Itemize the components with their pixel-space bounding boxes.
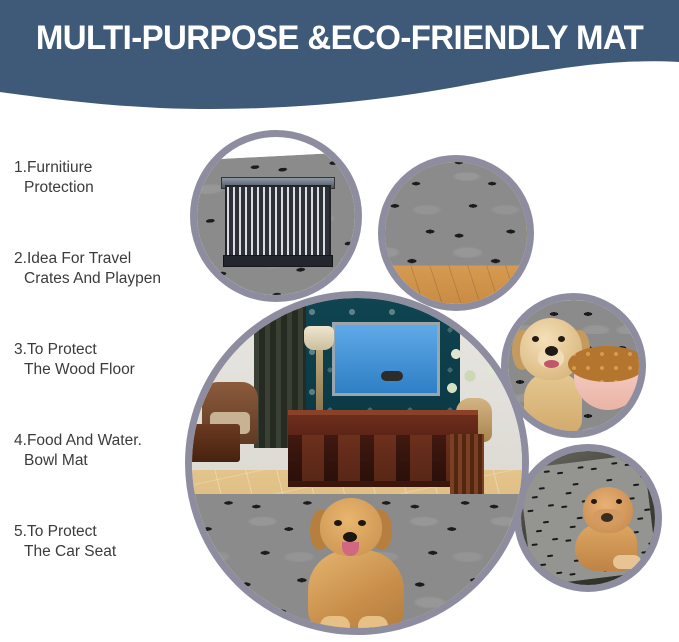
feature-4-index: 4. bbox=[14, 432, 27, 449]
feature-3-line1: To Protect bbox=[27, 341, 97, 358]
bowl-dog-nose bbox=[545, 346, 558, 356]
feature-4-line2: Bowl Mat bbox=[14, 451, 209, 471]
dog-nose bbox=[343, 532, 357, 542]
crate-scene bbox=[197, 137, 355, 295]
feature-item-2: 2.Idea For Travel Crates And Playpen bbox=[14, 249, 209, 289]
photo-circle-living-room bbox=[185, 291, 529, 635]
page-title: MULTI-PURPOSE &ECO-FRIENDLY MAT bbox=[10, 18, 669, 58]
flower-arrangement bbox=[442, 336, 504, 406]
product-infographic: MULTI-PURPOSE &ECO-FRIENDLY MAT 1.Furnit… bbox=[0, 0, 679, 642]
kibble-food bbox=[568, 346, 639, 382]
dog-paw-right bbox=[358, 616, 388, 628]
feature-5-index: 5. bbox=[14, 523, 27, 540]
puppy-nose bbox=[601, 513, 613, 522]
feature-item-4: 4.Food And Water. Bowl Mat bbox=[14, 431, 209, 471]
crate-bars bbox=[225, 185, 331, 261]
living-room-scene bbox=[192, 298, 522, 628]
feature-item-1: 1.Furnitiure Protection bbox=[14, 158, 209, 198]
food-bowl-scene bbox=[508, 300, 639, 431]
feature-item-5: 5.To Protect The Car Seat bbox=[14, 522, 209, 562]
feature-5-line1: To Protect bbox=[27, 523, 97, 540]
bowl-dog-eye-right bbox=[558, 336, 565, 342]
feature-1-line2: Protection bbox=[14, 178, 209, 198]
crate-tray bbox=[223, 255, 333, 267]
photo-circle-car-seat bbox=[514, 444, 662, 592]
feature-4-line1: Food And Water. bbox=[27, 432, 142, 449]
feature-5-line2: The Car Seat bbox=[14, 542, 209, 562]
side-table bbox=[192, 424, 240, 462]
feature-1-line1: Furnitiure bbox=[27, 159, 92, 176]
feature-list: 1.Furnitiure Protection 2.Idea For Trave… bbox=[14, 158, 209, 613]
car-seat-scene bbox=[521, 451, 655, 585]
feature-3-index: 3. bbox=[14, 341, 27, 358]
dog-paw-left bbox=[320, 616, 350, 628]
feature-3-line2: The Wood Floor bbox=[14, 360, 209, 380]
dog-body bbox=[308, 550, 404, 628]
feature-1-index: 1. bbox=[14, 159, 27, 176]
feature-item-3: 3.To Protect The Wood Floor bbox=[14, 340, 209, 380]
dog-eye-right bbox=[358, 520, 366, 526]
wood-floor-scene bbox=[385, 162, 527, 304]
dog-eye-left bbox=[334, 520, 342, 526]
puppy-eye-right bbox=[616, 499, 622, 504]
puppy-paw bbox=[613, 555, 641, 569]
television bbox=[332, 322, 440, 396]
dog-crate bbox=[225, 177, 331, 265]
feature-2-line2: Crates And Playpen bbox=[14, 269, 209, 289]
bowl-dog-body bbox=[524, 372, 582, 431]
photo-circle-wood-floor bbox=[378, 155, 534, 311]
tv-screen-object bbox=[381, 371, 403, 381]
bowl-dog-mouth bbox=[544, 360, 559, 368]
floor-lamp-shade bbox=[304, 326, 334, 350]
feature-2-index: 2. bbox=[14, 250, 27, 267]
living-room-dog bbox=[298, 498, 420, 628]
bowl-dog-eye-left bbox=[532, 336, 539, 342]
photo-circle-crate bbox=[190, 130, 362, 302]
puppy-eye-left bbox=[591, 499, 597, 504]
feature-2-line1: Idea For Travel bbox=[27, 250, 131, 267]
wood-floor-mat bbox=[385, 162, 527, 265]
